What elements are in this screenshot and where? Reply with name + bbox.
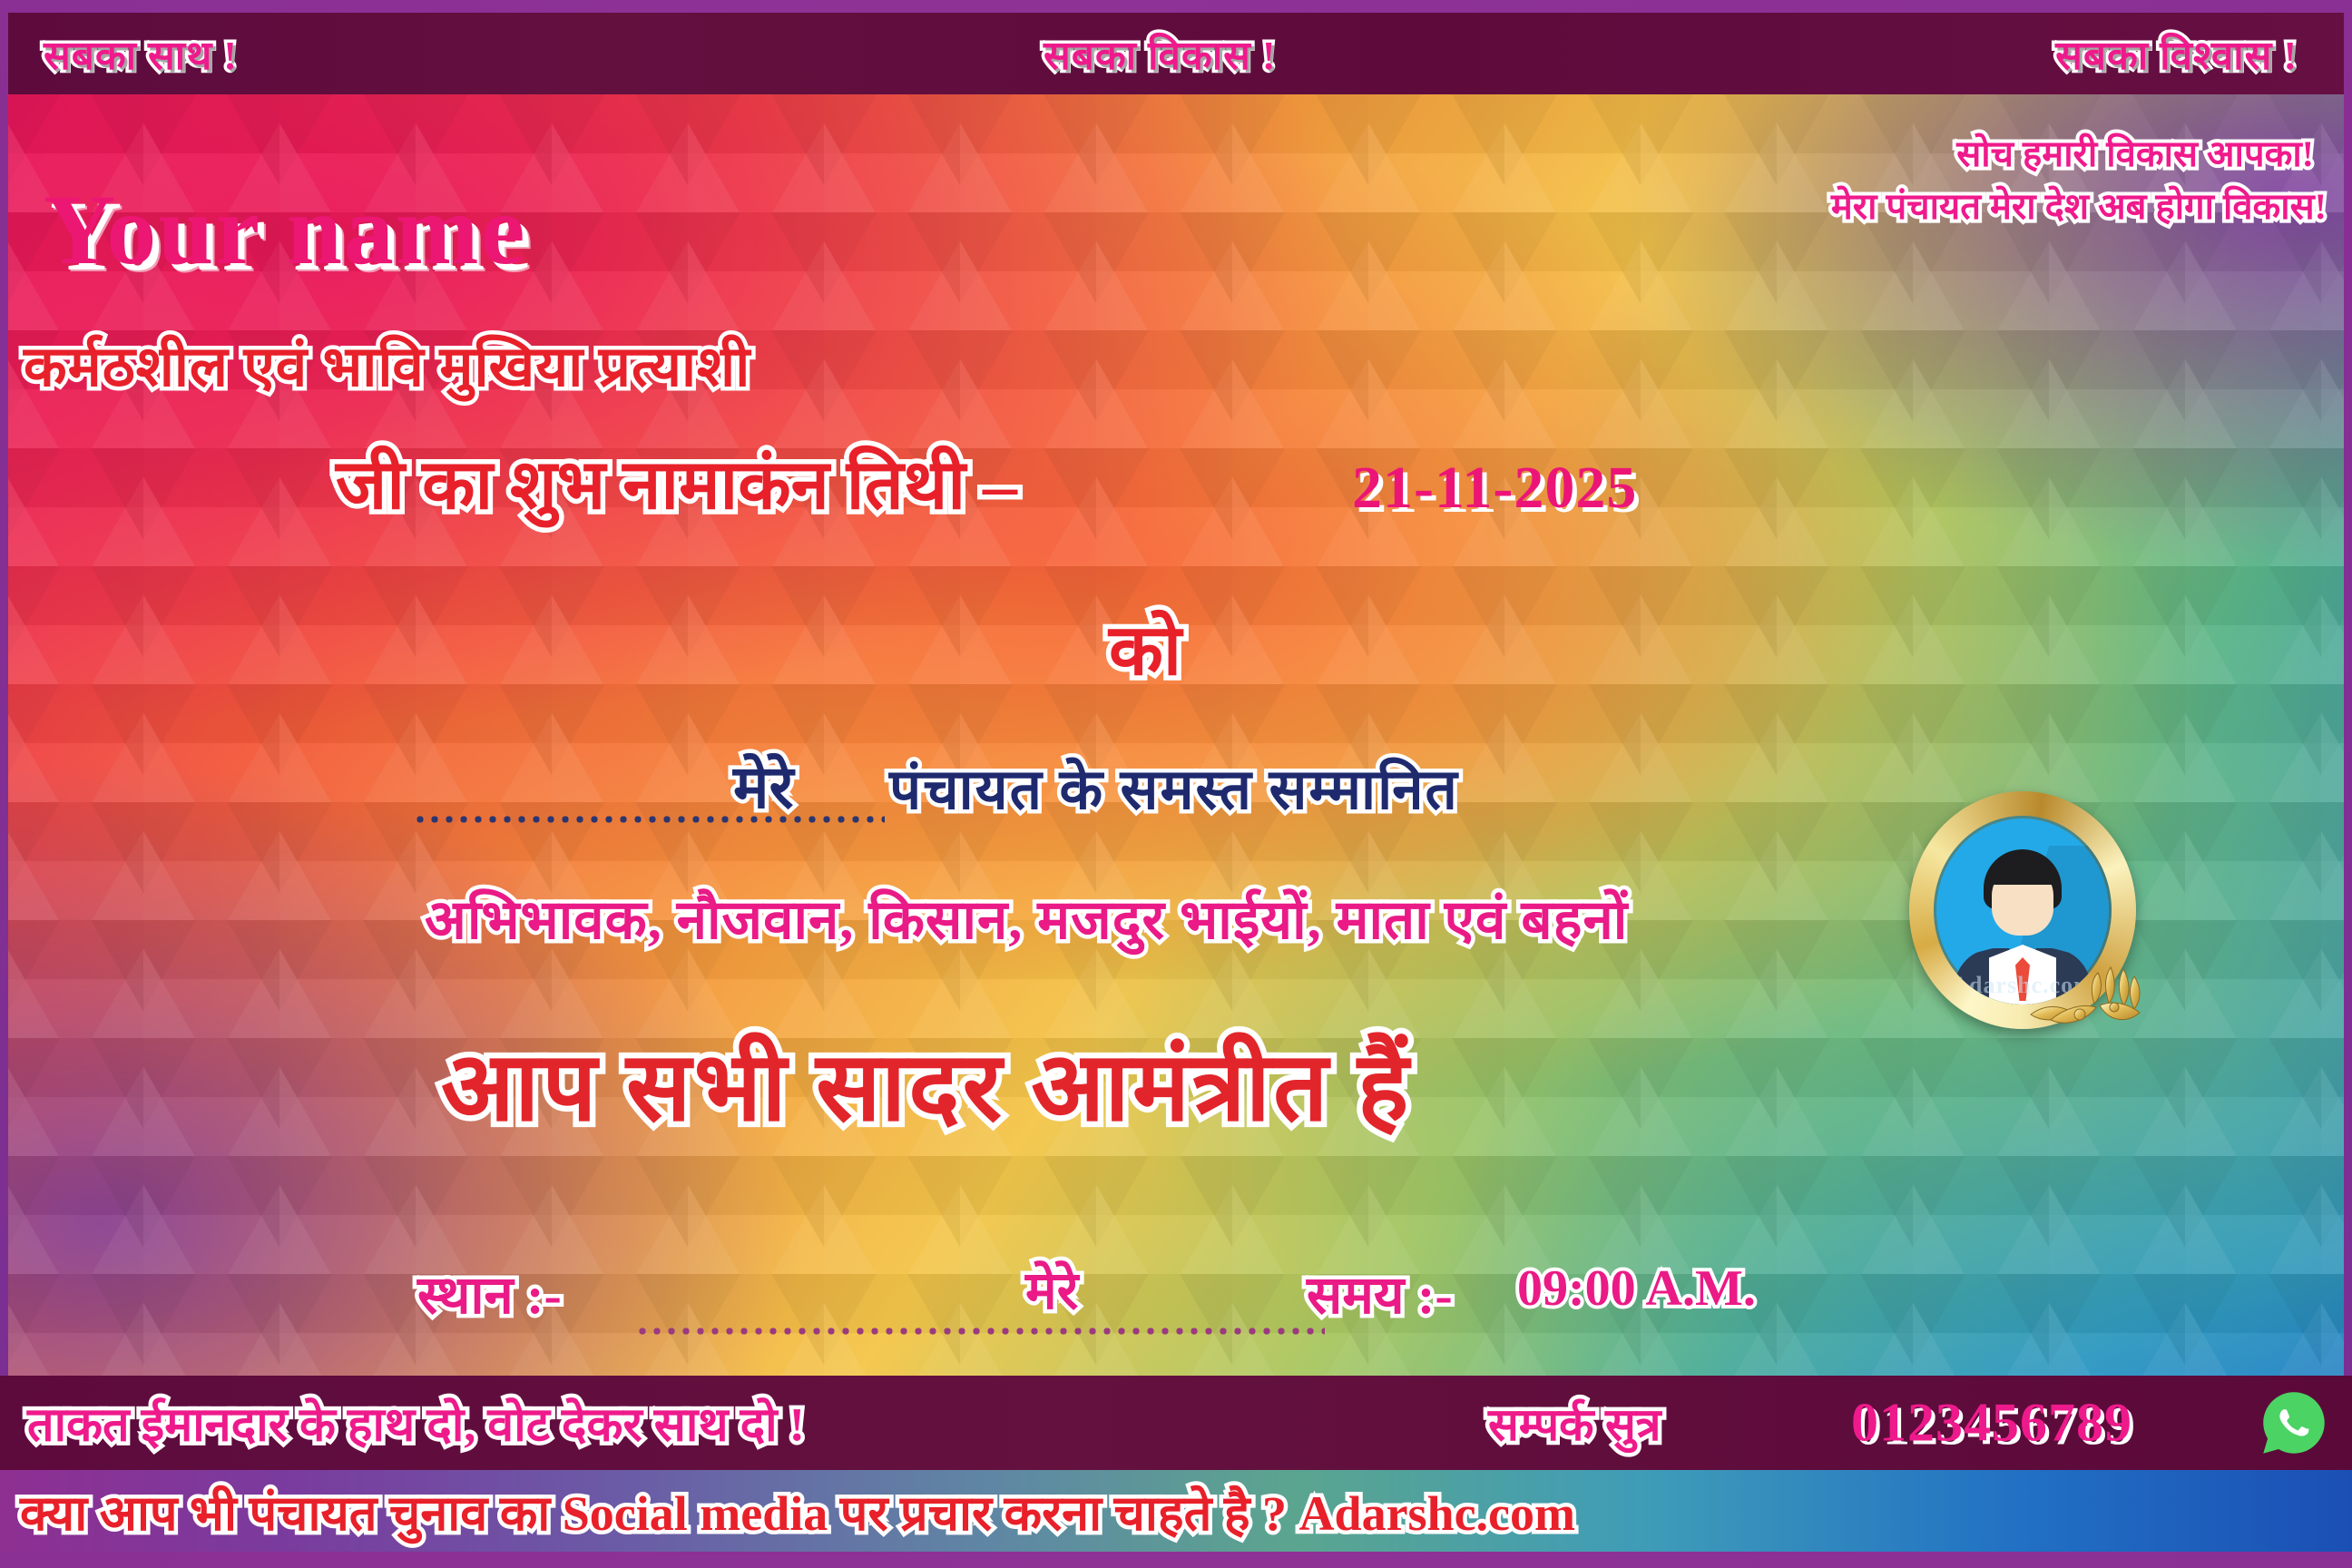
time-label: समय :- <box>1307 1257 1453 1328</box>
bottom-promo-strip: क्या आप भी पंचायत चुनाव का Social media … <box>0 1470 2352 1552</box>
bottom-purple-rim <box>0 1552 2352 1568</box>
dotted-fill-line-bottom <box>635 1327 1325 1336</box>
time-value: 09:00 A.M. <box>1517 1259 1756 1318</box>
top-purple-rim <box>0 0 2352 13</box>
avatar-fringe <box>1986 861 2059 885</box>
left-purple-rim <box>0 13 8 1470</box>
slogan-sabka-vikas: सबका विकास ! <box>1044 26 1277 81</box>
bottom-slogan: ताकत ईमानदार के हाथ दो, वोट देकर साथ दो … <box>27 1391 805 1455</box>
bottom-contact-bar: ताकत ईमानदार के हाथ दो, वोट देकर साथ दो … <box>0 1376 2352 1470</box>
whatsapp-icon[interactable] <box>2261 1390 2327 1455</box>
right-purple-rim <box>2344 13 2352 1470</box>
poster-canvas: सबका साथ ! सबका विकास ! सबका विश्वास ! स… <box>0 0 2352 1568</box>
mere-placeholder-blue: मेरे <box>733 744 793 826</box>
venue-value: मेरे <box>1025 1252 1078 1324</box>
tagline-mera-panchayat: मेरा पंचायत मेरा देश अब होगा विकास! <box>1831 180 2327 230</box>
avatar-watermark: Adarshc.com <box>1934 972 2112 999</box>
candidate-subtitle: कर्मठशील एवं भावि मुखिया प्रत्याशी <box>24 327 750 403</box>
dotted-fill-line-top <box>413 815 885 824</box>
nomination-date-value: 21-11-2025 <box>1352 454 1637 523</box>
nomination-date-label: जी का शुभ नामाकंन तिथी – <box>336 436 1017 529</box>
slogan-sabka-saath: सबका साथ ! <box>44 26 238 81</box>
promo-text[interactable]: क्या आप भी पंचायत चुनाव का Social media … <box>20 1477 1575 1544</box>
ko-word: को <box>1109 599 1181 695</box>
venue-label: स्थान :- <box>417 1257 562 1328</box>
slogan-sabka-vishwas: सबका विश्वास ! <box>2055 26 2298 81</box>
person-avatar-icon: Adarshc.com <box>1934 816 2112 1004</box>
top-slogan-bar: सबका साथ ! सबका विकास ! सबका विश्वास ! <box>0 13 2352 94</box>
contact-phone-number[interactable]: 0123456789 <box>1851 1392 2132 1455</box>
panchayat-honored-line: पंचायत के समस्त सम्मानित <box>889 750 1459 826</box>
candidate-name: Your name <box>44 172 526 288</box>
invitation-line: आप सभी सादर आमंत्रीत हैं <box>441 1018 1411 1149</box>
tagline-soch-hamari: सोच हमारी विकास आपका! <box>1956 127 2314 177</box>
candidate-photo-frame: Adarshc.com <box>1909 791 2136 1029</box>
contact-label: सम्पर्क सुत्र <box>1488 1392 1661 1454</box>
audience-line: अभिभावक, नौजवान, किसान, मजदुर भाईयों, मा… <box>425 880 1628 955</box>
